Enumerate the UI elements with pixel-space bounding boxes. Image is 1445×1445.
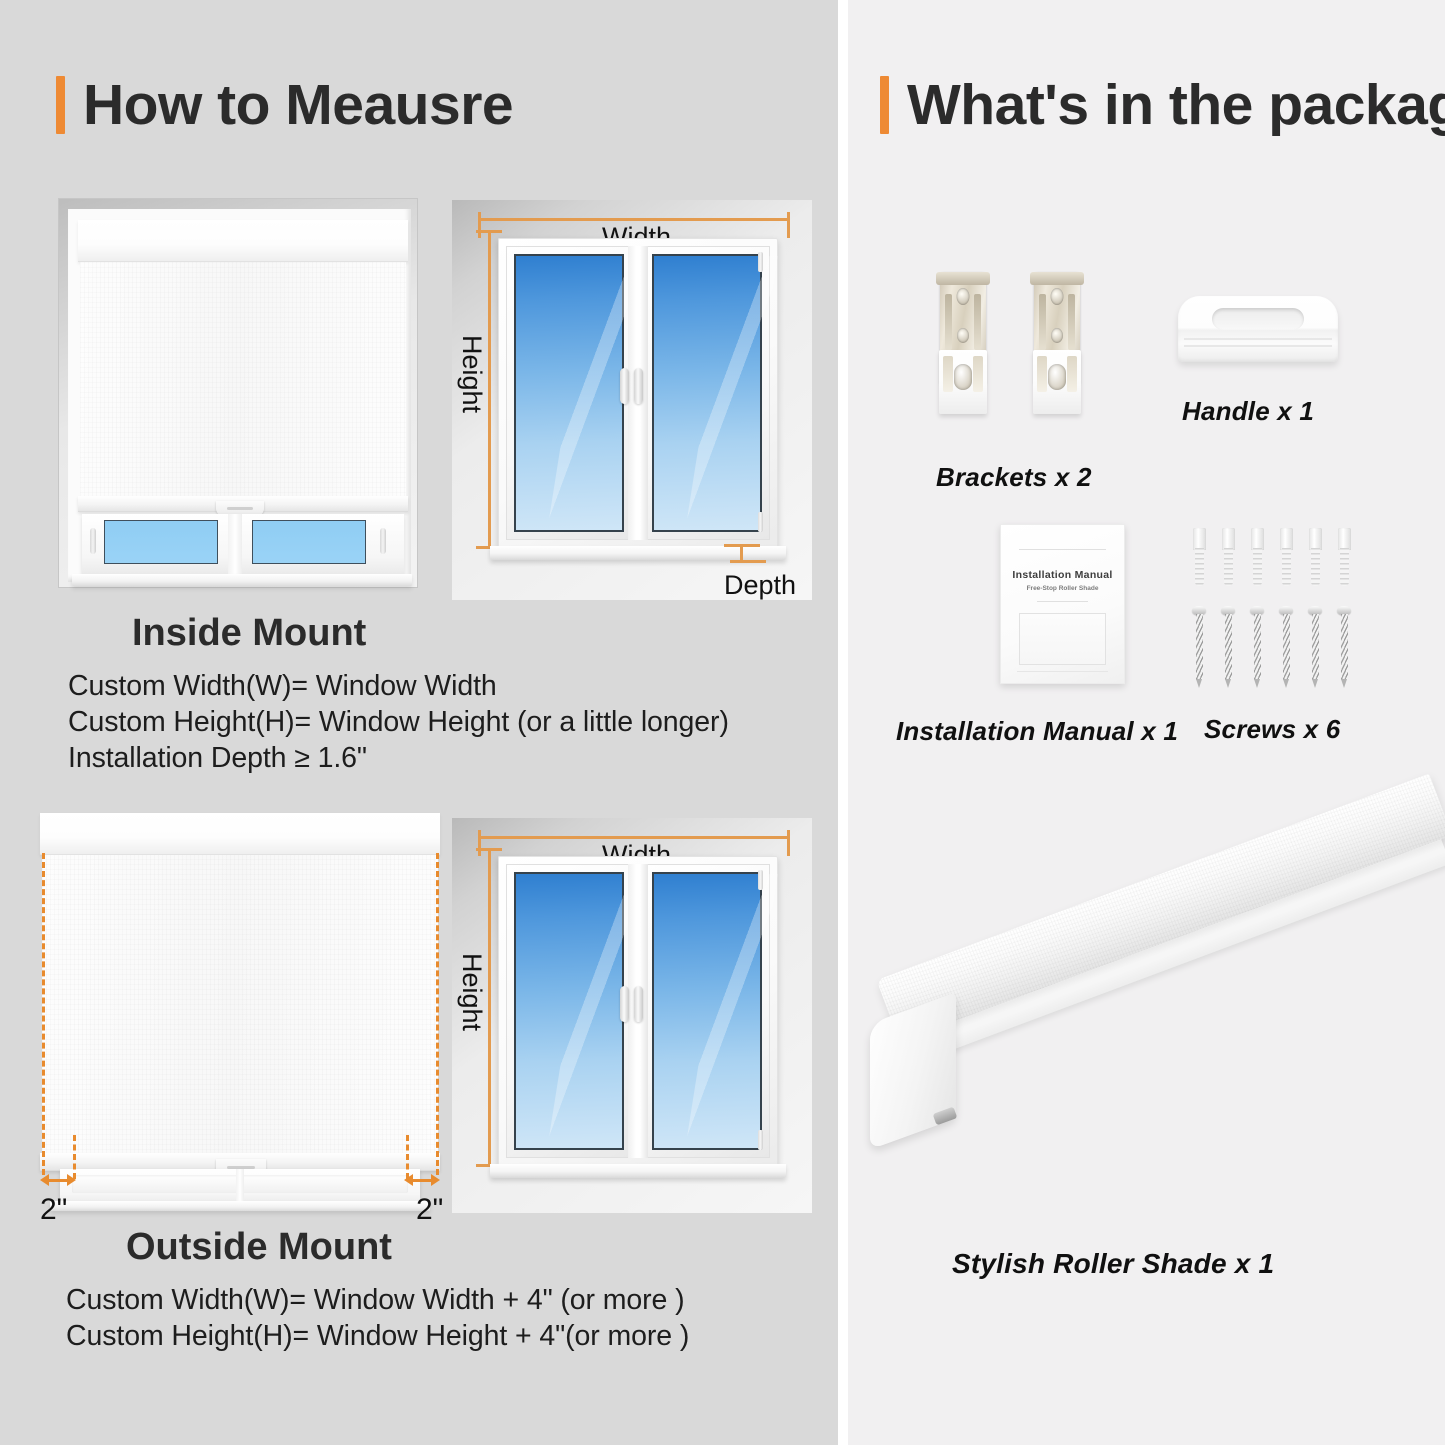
depth-dimension-bottom (730, 560, 766, 563)
screws-item: Screws x 6 (1178, 524, 1428, 764)
window-glass-pane-right-outside (652, 872, 762, 1150)
window-glass-right (252, 520, 366, 564)
how-to-measure-heading: How to Meausre (56, 72, 513, 138)
window-hinge-bottom-icon (758, 512, 763, 532)
window-glass-pane-right (652, 254, 762, 532)
wall-anchor-icon (1279, 528, 1294, 586)
inside-mount-line-2: Custom Height(H)= Window Height (or a li… (68, 706, 729, 739)
screw-icon (1308, 606, 1322, 688)
wall-anchor-icon (1308, 528, 1323, 586)
handle-item: Handle x 1 (1168, 296, 1398, 456)
wall-anchor-icon (1250, 528, 1265, 586)
overhang-guide-right (436, 853, 439, 1175)
overhang-guide-left (42, 853, 45, 1175)
overhang-label-right: 2" (416, 1193, 443, 1227)
brackets-label: Brackets x 2 (936, 462, 1092, 493)
width-dimension-line-outside (478, 836, 790, 839)
width-dimension-line (478, 218, 790, 221)
installation-manual-item: Installation Manual Free-Stop Roller Sha… (868, 524, 1178, 764)
outside-mount-shade-illustration: 2" 2" (20, 805, 460, 1205)
screws-row (1192, 606, 1372, 696)
installation-manual-icon: Installation Manual Free-Stop Roller Sha… (1000, 524, 1125, 684)
shade-valance (78, 220, 408, 262)
wall-anchor-icon (1337, 528, 1352, 586)
depth-dimension-line (740, 544, 743, 562)
shade-valance-outside (40, 813, 440, 855)
width-dimension-cap-right (787, 212, 790, 238)
outside-mount-line-1: Custom Width(W)= Window Width + 4" (or m… (66, 1284, 685, 1317)
overhang-arrow-left (40, 1173, 76, 1187)
height-dimension-cap-top (476, 230, 502, 233)
inside-mount-line-1: Custom Width(W)= Window Width (68, 670, 497, 703)
window-sill (72, 574, 412, 586)
window-glass-left (104, 520, 218, 564)
shade-fabric-outside (42, 855, 438, 1155)
overhang-label-left: 2" (40, 1193, 67, 1227)
inside-mount-title: Inside Mount (132, 612, 366, 655)
roller-shade-item: Stylish Roller Shade x 1 (848, 860, 1445, 1320)
package-title: What's in the package (907, 72, 1445, 138)
window-handle-left-icon-outside (620, 986, 629, 1022)
infographic-page: How to Meausre Width (0, 0, 1445, 1445)
screw-icon (1337, 606, 1351, 688)
height-label-outside: Height (456, 953, 487, 1031)
width-dimension-cap-left-outside (478, 830, 481, 856)
how-to-measure-panel: How to Meausre Width (0, 0, 838, 1445)
roller-shade-tube (876, 773, 1445, 1041)
accent-bar-icon (56, 76, 65, 134)
installation-manual-label: Installation Manual x 1 (896, 716, 1178, 747)
screw-icon (1221, 606, 1235, 688)
window-sill-ledge-outside (490, 1164, 786, 1178)
window-handle-left-icon (620, 368, 629, 404)
shade-fabric (80, 262, 406, 498)
window-hinge-top-icon-outside (758, 870, 763, 890)
inside-mount-shade-illustration (58, 198, 418, 588)
wall-anchor-icon (1192, 528, 1207, 586)
window-hinge-top-icon (758, 252, 763, 272)
roller-shade-label: Stylish Roller Shade x 1 (952, 1248, 1274, 1280)
window-glass-pane-left-outside (514, 872, 624, 1150)
package-contents-panel: What's in the package Br (848, 0, 1445, 1445)
window-hinge-bottom-icon-outside (758, 1130, 763, 1150)
window-glass-pane-left (514, 254, 624, 532)
roller-shade-end-cap (870, 992, 956, 1149)
wall-anchor-icon (1221, 528, 1236, 586)
screw-icon (1250, 606, 1264, 688)
brackets-item: Brackets x 2 (908, 272, 1108, 502)
bracket-1-icon (936, 272, 990, 422)
window-handle-left-icon (90, 528, 96, 554)
bracket-2-icon (1030, 272, 1084, 422)
window-mullion-outside (236, 1169, 244, 1205)
handle-label: Handle x 1 (1182, 396, 1314, 427)
height-dimension-line-outside (488, 848, 491, 1166)
manual-cover-subtitle: Free-Stop Roller Shade (1001, 585, 1124, 592)
screw-icon (1279, 606, 1293, 688)
inside-mount-line-3: Installation Depth ≥ 1.6" (68, 742, 367, 775)
height-dimension-cap-top-outside (476, 848, 502, 851)
depth-label: Depth (724, 570, 796, 601)
window-handle-right-icon (380, 528, 386, 554)
screws-label: Screws x 6 (1204, 714, 1340, 745)
how-to-measure-title: How to Meausre (83, 72, 513, 138)
height-dimension-line (488, 230, 491, 548)
accent-bar-icon (880, 76, 889, 134)
window-handle-right-icon-outside (634, 986, 643, 1022)
screw-icon (1192, 606, 1206, 688)
overhang-arrow-right (404, 1173, 440, 1187)
window-sill-outside (50, 1201, 430, 1211)
window-handle-right-icon (634, 368, 643, 404)
width-dimension-cap-right-outside (787, 830, 790, 856)
manual-cover-title: Installation Manual (1001, 569, 1124, 581)
width-dimension-cap-left (478, 212, 481, 238)
outside-mount-title: Outside Mount (126, 1226, 392, 1269)
outside-mount-window-diagram: Width Height (452, 818, 812, 1213)
package-heading: What's in the package (880, 72, 1445, 138)
inside-mount-window-diagram: Width Height Depth (452, 200, 812, 600)
panel-divider (838, 0, 848, 1445)
window-mullion (228, 514, 242, 576)
outside-mount-line-2: Custom Height(H)= Window Height + 4"(or … (66, 1320, 689, 1353)
anchors-row (1192, 528, 1372, 588)
height-label: Height (456, 335, 487, 413)
handle-icon (1178, 296, 1338, 362)
